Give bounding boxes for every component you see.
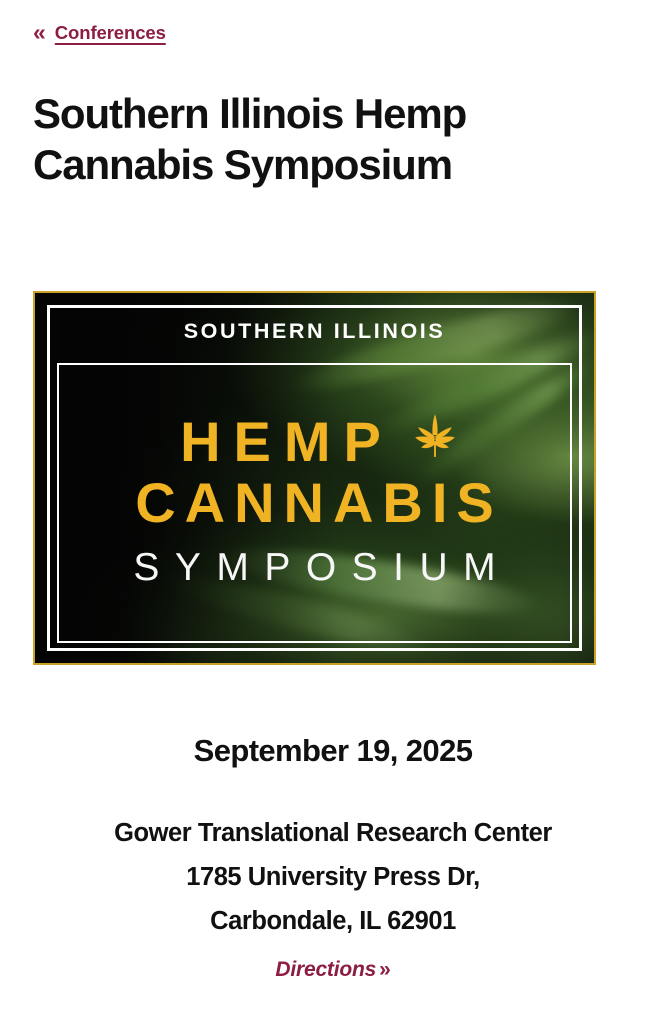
event-street-address: 1785 University Press Dr, — [0, 856, 666, 900]
cannabis-leaf-icon — [408, 409, 462, 468]
poster-headline-cannabis: CANNABIS — [126, 474, 503, 533]
poster-content: SOUTHERN ILLINOIS HEMP — [47, 305, 582, 651]
poster-headline-block: HEMP — [57, 363, 572, 643]
double-chevron-left-icon: « — [33, 21, 46, 44]
breadcrumb[interactable]: « Conferences — [33, 22, 166, 45]
directions-link[interactable]: Directions» — [0, 958, 666, 982]
event-address: Gower Translational Research Center 1785… — [0, 812, 666, 944]
event-venue-name: Gower Translational Research Center — [0, 812, 666, 856]
event-poster-image: SOUTHERN ILLINOIS HEMP — [33, 291, 596, 665]
poster-headline-row-1: HEMP — [167, 413, 462, 470]
page-title: Southern Illinois Hemp Cannabis Symposiu… — [33, 88, 573, 190]
directions-label: Directions — [275, 958, 376, 981]
page-root: « Conferences Southern Illinois Hemp Can… — [0, 0, 666, 1024]
poster-subhead-symposium: SYMPOSIUM — [118, 547, 511, 590]
double-chevron-right-icon: » — [379, 958, 390, 981]
event-city-state-zip: Carbondale, IL 62901 — [0, 900, 666, 944]
poster-eyebrow-text: SOUTHERN ILLINOIS — [184, 319, 446, 344]
poster-headline-hemp: HEMP — [167, 413, 394, 470]
event-date: September 19, 2025 — [0, 733, 666, 769]
breadcrumb-link-conferences[interactable]: Conferences — [55, 24, 166, 43]
